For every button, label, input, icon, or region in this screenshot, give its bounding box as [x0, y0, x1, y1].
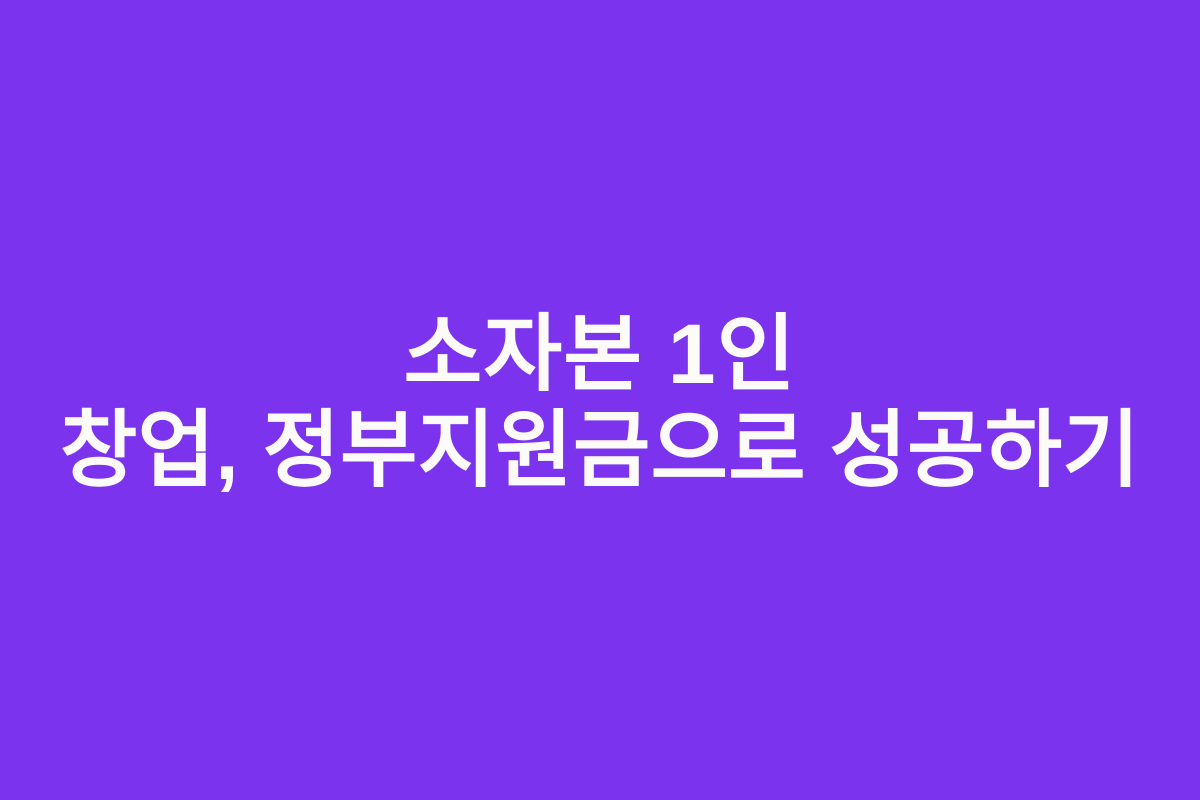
headline-line-1: 소자본 1인 [0, 306, 1200, 402]
headline-inner: 소자본 1인 창업, 정부지원금으로 성공하기 [0, 306, 1200, 498]
promo-banner: 소자본 1인 창업, 정부지원금으로 성공하기 [0, 0, 1200, 800]
headline-block: 소자본 1인 창업, 정부지원금으로 성공하기 [0, 304, 1200, 496]
headline-line-2: 창업, 정부지원금으로 성공하기 [0, 402, 1200, 498]
